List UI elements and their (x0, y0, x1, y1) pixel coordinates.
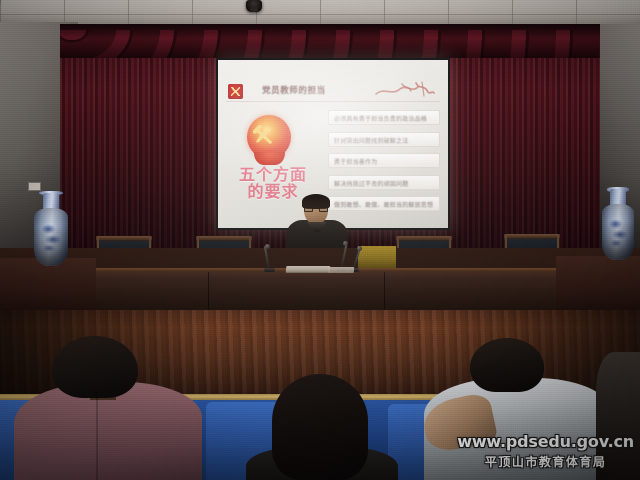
audience-member-partial (596, 352, 640, 480)
slide-bullet-item: 针对突出问题找到破解之法 (328, 132, 440, 147)
conference-photo: 党员教师的担当 五个方面 的要求 (0, 0, 640, 480)
wall-socket-icon (28, 182, 41, 191)
slide-header-title: 党员教师的担当 (262, 84, 326, 96)
slide-bullet-text: 解决挡我过不去的顽固问题 (334, 179, 408, 188)
right-cabinet (556, 256, 640, 314)
slide-bullet-text: 必须具有勇于担当负责的政治品格 (334, 114, 427, 123)
documents-on-table (286, 266, 331, 273)
red-brush-calligraphy-icon (372, 78, 436, 102)
slide-bullet-item: 必须具有勇于担当负责的政治品格 (328, 110, 440, 125)
cpc-emblem-large-icon (242, 115, 296, 167)
projector-lens (250, 7, 258, 12)
slide-bullet-text: 针对突出问题找到破解之法 (334, 136, 408, 145)
glasses-icon (304, 207, 328, 212)
audience-hair (470, 338, 544, 392)
ceiling-projector-icon (246, 0, 262, 12)
emblem-base (254, 152, 285, 165)
desk-microphone-icon (268, 246, 278, 270)
slide-bullet-item: 勇于担当善作为 (328, 153, 440, 168)
audience-hair (52, 336, 138, 398)
slide-header: 党员教师的担当 (226, 82, 440, 102)
audience-member-dark-hair (272, 374, 368, 480)
hammer-sickle-icon (253, 124, 276, 147)
slide-bullet-item: 解决挡我过不去的顽固问题 (328, 175, 440, 190)
yellow-table-banner (358, 246, 396, 268)
left-cabinet (0, 258, 96, 316)
documents-on-table (328, 267, 354, 273)
slide-bullet-text: 勇于担当善作为 (334, 157, 377, 166)
blue-white-porcelain-vase (602, 204, 634, 260)
cpc-emblem-icon (228, 84, 243, 99)
valance-shading (60, 24, 600, 58)
curtain-valance (60, 24, 600, 58)
slide-bullet-text: 做到敢想、敢做、敢担当的解放思想 (334, 200, 433, 209)
slide-headline-line1: 五个方面 (230, 168, 316, 185)
blue-white-porcelain-vase (34, 208, 68, 266)
coat-seam (96, 392, 98, 480)
